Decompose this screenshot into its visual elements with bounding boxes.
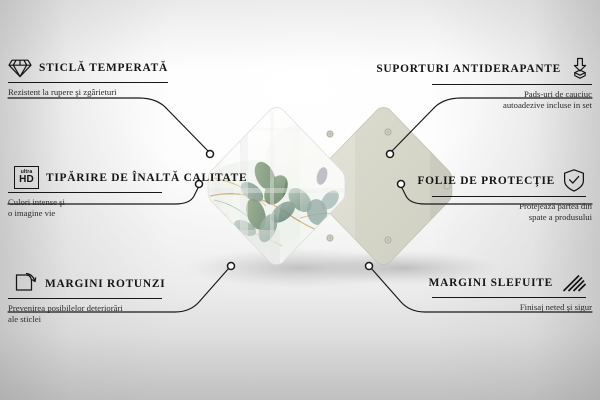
feature-polished-edges: MARGINI SLEFUITE Finisaj neted şi sigur bbox=[432, 272, 586, 313]
feature-head: MARGINI ROTUNZI bbox=[14, 272, 168, 295]
feature-high-quality-print: ultra HD TIPĂRIRE DE ÎNALTĂ CALITATE Cul… bbox=[14, 166, 168, 219]
feature-rule bbox=[432, 196, 586, 197]
feature-subtitle: Culori intense şi o imagine vie bbox=[8, 197, 168, 219]
feature-title: MARGINI SLEFUITE bbox=[429, 276, 553, 290]
feature-subtitle: Rezistent la rupere şi zgârieturi bbox=[8, 87, 168, 98]
feature-anti-slip-supports: SUPORTURI ANTIDERAPANTE Pads-uri de cauc… bbox=[432, 57, 592, 111]
diagonal-hatch-icon bbox=[560, 272, 586, 294]
feature-rule bbox=[8, 192, 162, 193]
feature-title: FOLIE DE PROTECŢIE bbox=[417, 174, 555, 188]
feature-head: MARGINI SLEFUITE bbox=[432, 272, 586, 294]
shield-check-icon bbox=[562, 168, 586, 193]
feature-head: ultra HD TIPĂRIRE DE ÎNALTĂ CALITATE bbox=[14, 166, 168, 189]
feature-head: STICLĂ TEMPERATĂ bbox=[8, 57, 168, 79]
ultra-hd-icon: ultra HD bbox=[14, 166, 39, 189]
feature-subtitle: Pads-uri de cauciuc autoadezive incluse … bbox=[432, 89, 592, 111]
ultra-hd-bottom-label: HD bbox=[19, 175, 34, 185]
press-down-pad-icon bbox=[568, 57, 592, 81]
feature-subtitle: Protejează partea din spate a produsului bbox=[432, 201, 592, 223]
feature-protective-film: FOLIE DE PROTECŢIE Protejează partea din… bbox=[432, 168, 586, 223]
rounded-corner-icon bbox=[14, 272, 38, 295]
feature-rule bbox=[432, 297, 586, 298]
feature-head: SUPORTURI ANTIDERAPANTE bbox=[432, 57, 592, 81]
feature-title: STICLĂ TEMPERATĂ bbox=[39, 61, 168, 75]
feature-rule bbox=[8, 82, 168, 83]
feature-subtitle: Prevenirea posibilelor deteriorări ale s… bbox=[8, 303, 168, 325]
feature-rule bbox=[432, 84, 592, 85]
feature-rounded-edges: MARGINI ROTUNZI Prevenirea posibilelor d… bbox=[14, 272, 168, 325]
feature-title: TIPĂRIRE DE ÎNALTĂ CALITATE bbox=[46, 171, 247, 185]
feature-title: SUPORTURI ANTIDERAPANTE bbox=[376, 62, 561, 76]
diamond-icon bbox=[8, 57, 32, 79]
feature-title: MARGINI ROTUNZI bbox=[45, 277, 165, 291]
feature-subtitle: Finisaj neted şi sigur bbox=[432, 302, 592, 313]
infographic-stage: STICLĂ TEMPERATĂ Rezistent la rupere şi … bbox=[0, 0, 600, 400]
feature-rule bbox=[8, 298, 162, 299]
feature-tempered-glass: STICLĂ TEMPERATĂ Rezistent la rupere şi … bbox=[8, 57, 168, 98]
feature-head: FOLIE DE PROTECŢIE bbox=[432, 168, 586, 193]
